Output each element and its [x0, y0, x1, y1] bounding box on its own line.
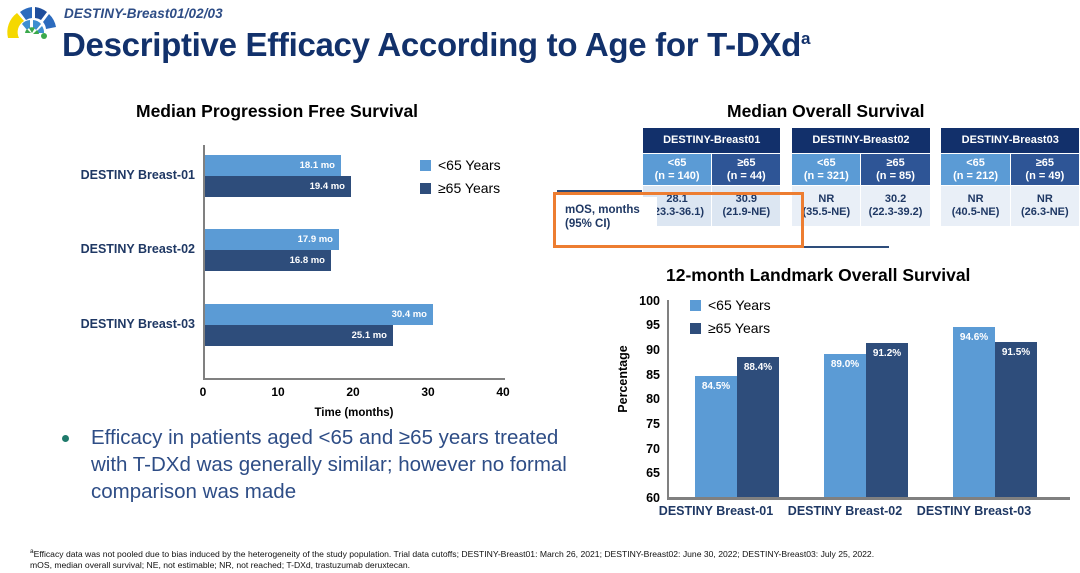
daiichi-sankyo-fan-logo	[4, 2, 60, 40]
legend-label-under65: <65 Years	[708, 297, 771, 313]
table-cell-db02-over65: 30.2(22.3-39.2)	[861, 186, 930, 227]
table-cell-db01-over65: 30.9(21.9-NE)	[712, 186, 781, 227]
landmark-y-tick: 65	[610, 466, 660, 480]
pfs-x-tick: 20	[338, 385, 368, 399]
page-title-text: Descriptive Efficacy According to Age fo…	[62, 26, 801, 63]
pfs-x-tick: 30	[413, 385, 443, 399]
legend-label-over65: ≥65 Years	[708, 320, 770, 336]
table-subheader-db01-over65: ≥65(n = 44)	[712, 154, 781, 186]
table-subheader-db01-under65: <65(n = 140)	[643, 154, 712, 186]
pfs-legend: <65 Years ≥65 Years	[420, 157, 501, 203]
eyebrow-study-label: DESTINY-Breast01/02/03	[64, 6, 223, 21]
landmark-legend: <65 Years ≥65 Years	[690, 297, 771, 343]
pfs-x-tick: 0	[188, 385, 218, 399]
legend-item-over65: ≥65 Years	[420, 180, 501, 196]
pfs-x-axis-label: Time (months)	[203, 407, 505, 419]
landmark-y-tick: 80	[610, 392, 660, 406]
landmark-bar-db02-under65: 89.0%	[824, 354, 866, 497]
legend-swatch-over65	[420, 183, 431, 194]
landmark-y-tick: 100	[610, 294, 660, 308]
pfs-bar-db03-under65: 30.4 mo	[205, 304, 433, 325]
bullet-dot-icon	[62, 435, 69, 442]
key-takeaway-bullet: Efficacy in patients aged <65 and ≥65 ye…	[62, 424, 582, 505]
pfs-bar-db01-over65: 19.4 mo	[205, 176, 351, 197]
median-pfs-bar-chart: DESTINY Breast-01 18.1 mo 19.4 mo DESTIN…	[40, 135, 540, 400]
table-subheader-db02-under65: <65(n = 321)	[792, 154, 861, 186]
landmark-category-label: DESTINY Breast-02	[770, 504, 920, 518]
median-overall-survival-table: DESTINY-Breast01 DESTINY-Breast02 DESTIN…	[642, 127, 1080, 227]
legend-swatch-over65	[690, 323, 701, 334]
table-gap	[781, 128, 792, 154]
mos-label-rule-top	[557, 190, 653, 192]
pfs-bar-db01-under65: 18.1 mo	[205, 155, 341, 176]
table-cell-db03-under65: NR(40.5-NE)	[941, 186, 1010, 227]
landmark-y-tick: 95	[610, 318, 660, 332]
table-header-db01: DESTINY-Breast01	[643, 128, 781, 154]
pfs-bar-db02-over65: 16.8 mo	[205, 250, 331, 271]
landmark-category-label: DESTINY Breast-01	[641, 504, 791, 518]
landmark-x-axis	[667, 497, 1070, 500]
landmark-y-tick: 85	[610, 368, 660, 382]
landmark-bar-db01-under65: 84.5%	[695, 376, 737, 497]
table-gap	[781, 154, 792, 186]
page-title: Descriptive Efficacy According to Age fo…	[62, 26, 810, 64]
pfs-x-tick: 10	[263, 385, 293, 399]
table-row-study-headers: DESTINY-Breast01 DESTINY-Breast02 DESTIN…	[643, 128, 1080, 154]
table-gap	[930, 154, 941, 186]
legend-swatch-under65	[690, 300, 701, 311]
table-header-db02: DESTINY-Breast02	[792, 128, 930, 154]
pfs-bar-db03-over65: 25.1 mo	[205, 325, 393, 346]
table-subheader-db03-over65: ≥65(n = 49)	[1010, 154, 1079, 186]
legend-label-over65: ≥65 Years	[438, 180, 500, 196]
legend-swatch-under65	[420, 160, 431, 171]
table-subheader-db03-under65: <65(n = 212)	[941, 154, 1010, 186]
pfs-chart-title: Median Progression Free Survival	[136, 101, 418, 122]
legend-item-over65: ≥65 Years	[690, 320, 771, 336]
landmark-bar-db01-over65: 88.4%	[737, 357, 779, 497]
table-header-db03: DESTINY-Breast03	[941, 128, 1080, 154]
footnote-line-1-text: Efficacy data was not pooled due to bias…	[34, 549, 874, 559]
mos-label-rule-bottom	[557, 246, 889, 248]
legend-label-under65: <65 Years	[438, 157, 501, 173]
legend-item-under65: <65 Years	[420, 157, 501, 173]
bullet-text: Efficacy in patients aged <65 and ≥65 ye…	[91, 424, 582, 505]
table-row-mos-values: 28.1(23.3-36.1) 30.9(21.9-NE) NR(35.5-NE…	[643, 186, 1080, 227]
landmark-y-tick: 90	[610, 343, 660, 357]
table-gap	[781, 186, 792, 227]
landmark-y-tick: 70	[610, 442, 660, 456]
footnote-line-2: mOS, median overall survival; NE, not es…	[30, 560, 1070, 572]
landmark-bar-db03-over65: 91.5%	[995, 342, 1037, 497]
landmark-y-tick: 75	[610, 417, 660, 431]
pfs-x-axis	[203, 378, 505, 380]
footnote: aEfficacy data was not pooled due to bia…	[30, 546, 1070, 572]
landmark-bar-db03-under65: 94.6%	[953, 327, 995, 497]
pfs-x-tick: 40	[488, 385, 518, 399]
table-subheader-db02-over65: ≥65(n = 85)	[861, 154, 930, 186]
pfs-category-label: DESTINY Breast-02	[45, 242, 195, 256]
table-gap	[930, 186, 941, 227]
table-cell-db02-under65: NR(35.5-NE)	[792, 186, 861, 227]
mos-row-label-line2: (95% CI)	[565, 217, 657, 231]
landmark-y-tick: 60	[610, 491, 660, 505]
landmark-os-bar-chart: Percentage 100 95 90 85 80 75 70 65 60 8…	[610, 292, 1080, 532]
table-row-age-headers: <65(n = 140) ≥65(n = 44) <65(n = 321) ≥6…	[643, 154, 1080, 186]
landmark-chart-title: 12-month Landmark Overall Survival	[666, 265, 970, 286]
mos-row-label: mOS, months (95% CI)	[557, 197, 657, 237]
mos-table-title: Median Overall Survival	[727, 101, 924, 122]
pfs-category-label: DESTINY Breast-01	[45, 168, 195, 182]
landmark-y-axis	[667, 300, 669, 497]
legend-item-under65: <65 Years	[690, 297, 771, 313]
page-title-superscript: a	[801, 29, 810, 48]
pfs-bar-db02-under65: 17.9 mo	[205, 229, 339, 250]
landmark-category-label: DESTINY Breast-03	[899, 504, 1049, 518]
footnote-divider	[0, 540, 1080, 541]
footnote-line-1: aEfficacy data was not pooled due to bia…	[30, 546, 1070, 560]
mos-row-label-line1: mOS, months	[565, 203, 657, 217]
pfs-category-label: DESTINY Breast-03	[45, 317, 195, 331]
table-gap	[930, 128, 941, 154]
table-cell-db03-over65: NR(26.3-NE)	[1010, 186, 1079, 227]
landmark-bar-db02-over65: 91.2%	[866, 343, 908, 497]
